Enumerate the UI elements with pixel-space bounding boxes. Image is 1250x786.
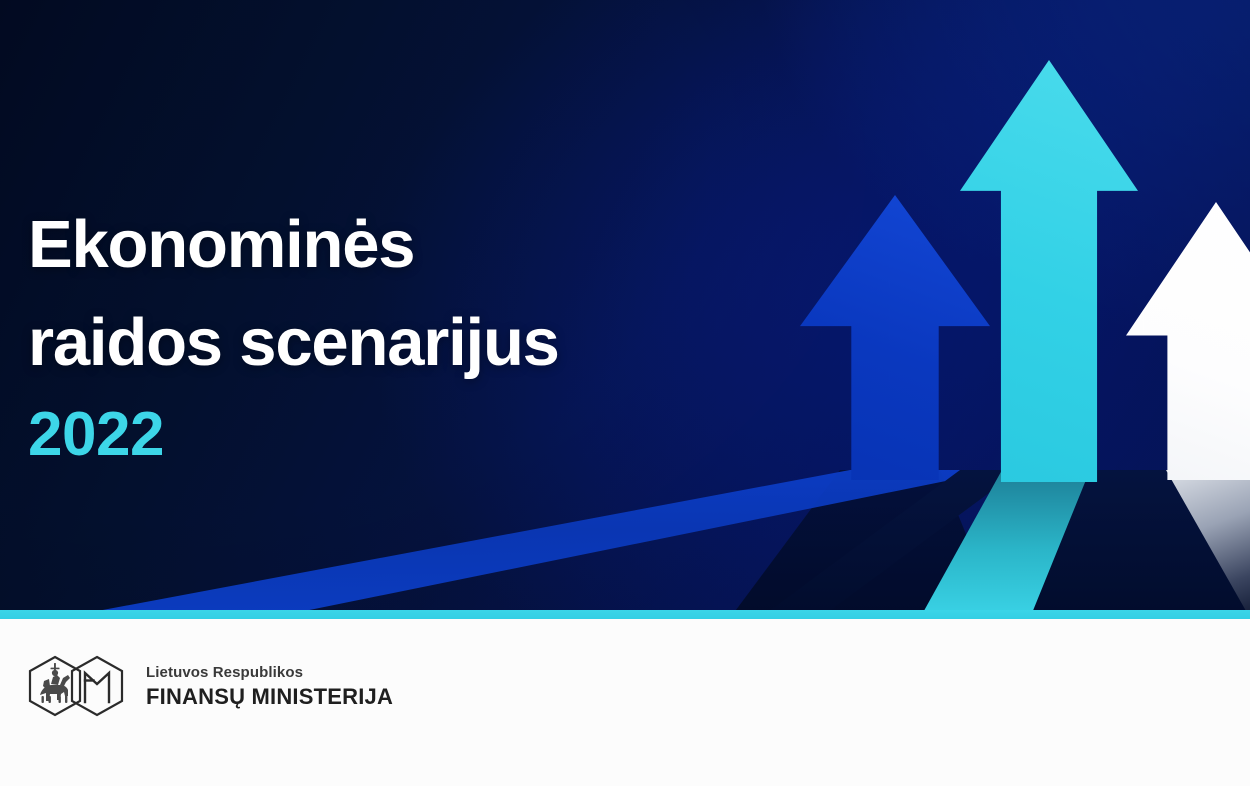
- title-line-2: raidos scenarijus: [28, 294, 768, 392]
- ministry-name-top: Lietuvos Respublikos: [146, 664, 393, 682]
- ministry-logo-mark: [24, 655, 132, 717]
- blue-arrow-icon: [800, 195, 990, 480]
- fm-monogram-icon: [85, 673, 109, 702]
- title-year: 2022: [28, 392, 768, 478]
- white-arrow-icon: [1126, 202, 1250, 480]
- page-title: Ekonominės raidos scenarijus 2022: [28, 196, 768, 478]
- cyan-arrow-icon: [960, 60, 1138, 482]
- title-line-1: Ekonominės: [28, 196, 768, 294]
- ministry-name-bottom: FINANSŲ MINISTERIJA: [146, 684, 393, 709]
- footer: Lietuvos Respublikos FINANSŲ MINISTERIJA: [0, 619, 1250, 786]
- poster: Ekonominės raidos scenarijus 2022: [0, 0, 1250, 786]
- ministry-logo[interactable]: Lietuvos Respublikos FINANSŲ MINISTERIJA: [24, 655, 393, 717]
- vytis-knight-icon: [40, 663, 70, 703]
- ministry-logo-text: Lietuvos Respublikos FINANSŲ MINISTERIJA: [146, 664, 393, 709]
- hero-banner: Ekonominės raidos scenarijus 2022: [0, 0, 1250, 618]
- cyan-divider: [0, 610, 1250, 619]
